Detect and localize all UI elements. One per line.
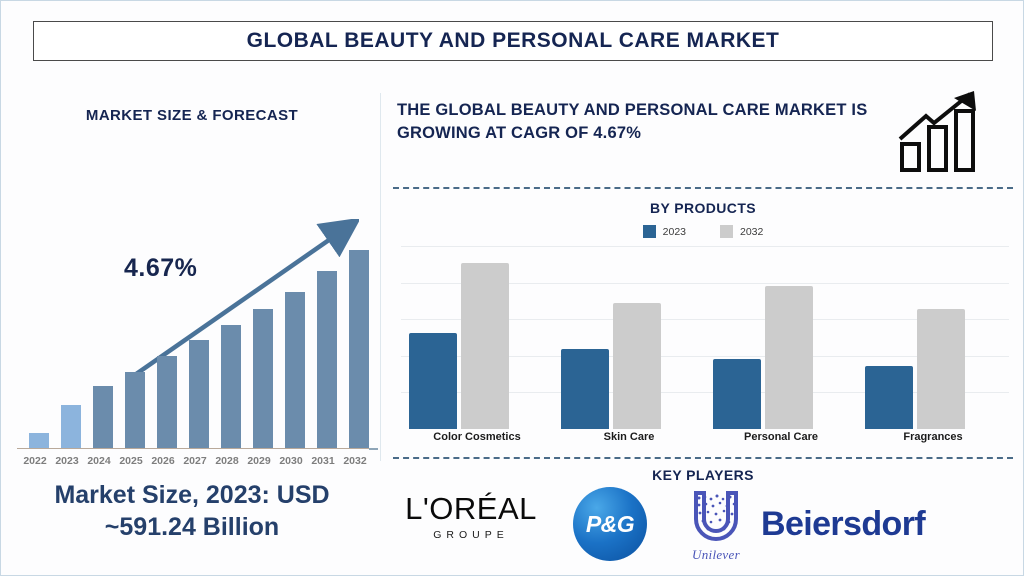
chart-legend: 2023 2032	[393, 225, 1013, 238]
by-products-category-label: Personal Care	[705, 431, 857, 443]
market-size-year-label: 2029	[244, 455, 274, 467]
by-products-title: BY PRODUCTS	[393, 200, 1013, 216]
by-products-category-label: Fragrances	[857, 431, 1009, 443]
by-products-category-label: Color Cosmetics	[401, 431, 553, 443]
by-products-bar	[409, 333, 457, 429]
loreal-subtitle: GROUPE	[387, 529, 555, 541]
legend-label-2023: 2023	[663, 226, 686, 238]
by-products-bar	[713, 359, 761, 429]
key-players-logos: L'ORÉAL GROUPE P&G	[393, 487, 1017, 567]
legend-swatch-2032	[720, 225, 733, 238]
key-players-title: KEY PLAYERS	[393, 467, 1013, 483]
loreal-wordmark: L'ORÉAL	[387, 493, 555, 524]
by-products-category-label: Skin Care	[553, 431, 705, 443]
market-size-year-label: 2030	[276, 455, 306, 467]
market-size-bar	[93, 386, 113, 449]
pg-wordmark: P&G	[586, 511, 634, 538]
market-size-year-label: 2026	[148, 455, 178, 467]
market-size-bar	[189, 340, 209, 449]
by-products-bar	[765, 286, 813, 429]
left-chart-axis-tick	[369, 448, 378, 450]
by-products-bar	[561, 349, 609, 429]
by-products-bar	[461, 263, 509, 429]
market-size-bar	[157, 356, 177, 449]
pg-sphere: P&G	[573, 487, 647, 561]
left-chart-heading: MARKET SIZE & FORECAST	[9, 107, 375, 124]
unilever-u-icon	[686, 489, 746, 541]
bar-chart-growth-icon	[896, 89, 991, 174]
market-size-year-label: 2023	[52, 455, 82, 467]
market-size-bar	[29, 433, 49, 449]
market-size-bar	[253, 309, 273, 449]
section-divider-bottom	[393, 457, 1013, 459]
market-size-year-label: 2031	[308, 455, 338, 467]
growth-headline: THE GLOBAL BEAUTY AND PERSONAL CARE MARK…	[397, 99, 877, 146]
market-size-bar	[349, 250, 369, 449]
market-size-year-label: 2022	[20, 455, 50, 467]
left-chart-year-labels: 2022202320242025202620272028202920302031…	[17, 455, 369, 473]
overview-panel: THE GLOBAL BEAUTY AND PERSONAL CARE MARK…	[393, 79, 1017, 569]
market-size-value: Market Size, 2023: USD ~591.24 Billion	[9, 479, 375, 543]
market-size-bar	[61, 405, 81, 449]
by-products-bar	[865, 366, 913, 429]
loreal-logo: L'ORÉAL GROUPE	[387, 493, 555, 541]
page-title: GLOBAL BEAUTY AND PERSONAL CARE MARKET	[247, 29, 780, 53]
market-size-forecast-panel: MARKET SIZE & FORECAST 4.67% 20222023202…	[9, 79, 375, 569]
by-products-bar-chart	[401, 246, 1009, 429]
legend-item-2032: 2032	[720, 225, 763, 238]
pg-logo: P&G	[573, 487, 649, 563]
unilever-logo: Unilever	[673, 489, 759, 563]
section-divider-top	[393, 187, 1013, 189]
market-size-year-label: 2025	[116, 455, 146, 467]
market-size-bar	[317, 271, 337, 449]
page-title-box: GLOBAL BEAUTY AND PERSONAL CARE MARKET	[33, 21, 993, 61]
infographic-page: GLOBAL BEAUTY AND PERSONAL CARE MARKET M…	[0, 0, 1024, 576]
beiersdorf-logo: Beiersdorf	[761, 505, 1011, 544]
market-size-year-label: 2032	[340, 455, 370, 467]
market-size-year-label: 2027	[180, 455, 210, 467]
chart-gridline	[401, 246, 1009, 247]
market-size-year-label: 2024	[84, 455, 114, 467]
by-products-bar	[917, 309, 965, 429]
left-chart-axis	[17, 448, 372, 449]
by-products-bar	[613, 303, 661, 429]
market-size-bar-chart	[19, 239, 369, 449]
market-size-bar	[285, 292, 305, 449]
unilever-wordmark: Unilever	[673, 547, 759, 563]
market-size-year-label: 2028	[212, 455, 242, 467]
market-size-line-2: ~591.24 Billion	[9, 511, 375, 543]
panel-divider	[380, 93, 381, 461]
legend-item-2023: 2023	[643, 225, 686, 238]
legend-swatch-2023	[643, 225, 656, 238]
market-size-line-1: Market Size, 2023: USD	[9, 479, 375, 511]
market-size-bar	[221, 325, 241, 449]
legend-label-2032: 2032	[740, 226, 763, 238]
market-size-bar	[125, 372, 145, 449]
by-products-category-labels: Color CosmeticsSkin CarePersonal CareFra…	[401, 431, 1009, 451]
